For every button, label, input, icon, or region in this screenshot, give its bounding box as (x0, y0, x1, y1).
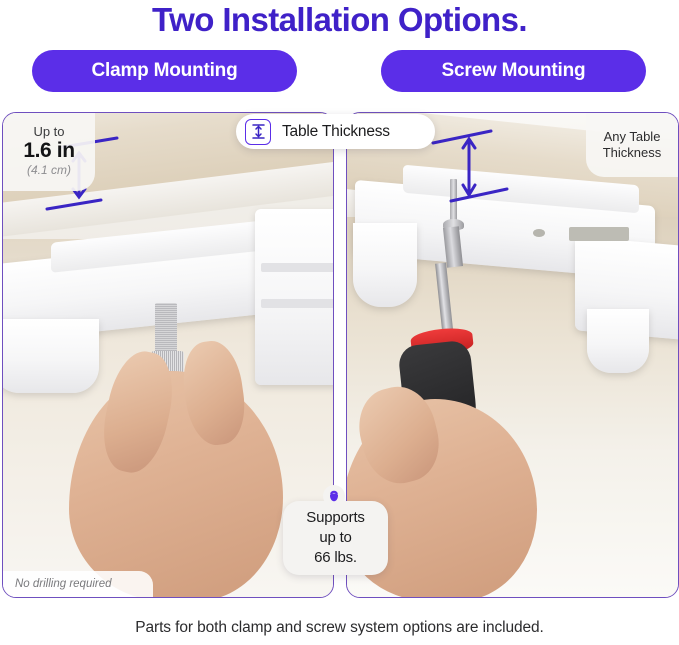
clamp-bracket-lower-hook (2, 319, 99, 393)
footer-caption: Parts for both clamp and screw system op… (0, 619, 679, 637)
badge-any-table-thickness: Any Table Thickness (586, 113, 678, 177)
tab-clamp-mounting[interactable]: Clamp Mounting (32, 50, 297, 92)
tab-screw-mounting[interactable]: Screw Mounting (381, 50, 646, 92)
badge-thickness-prefix: Up to (3, 124, 95, 139)
badge-no-drilling-label: No drilling required (15, 578, 112, 590)
clamp-bracket-slot-lower (261, 299, 334, 308)
badge-no-drilling-required: No drilling required (3, 571, 153, 597)
screw-bracket-left-hook (353, 223, 417, 307)
table-thickness-pill-label: Table Thickness (282, 123, 390, 141)
badge-thickness-metric: (4.1 cm) (3, 163, 95, 178)
screw-thickness-measure (429, 125, 513, 233)
supports-callout-line3: 66 lbs. (306, 548, 364, 568)
panel-screw-mounting: Any Table Thickness (346, 112, 679, 598)
screw-bracket-metal-plate (569, 227, 629, 241)
clamp-bracket-slot-upper (261, 263, 334, 272)
badge-any-line2: Thickness (603, 145, 662, 161)
screw-bracket-pilot-hole (533, 229, 545, 237)
table-thickness-pill: Table Thickness (236, 114, 435, 149)
vertical-double-arrow-icon (245, 119, 271, 145)
tab-screw-mounting-label: Screw Mounting (442, 60, 586, 82)
badge-thickness-value: 1.6 in (3, 139, 95, 163)
clamp-thumbscrew-shaft (155, 303, 177, 355)
supports-callout-line1: Supports (306, 508, 364, 528)
clamp-bracket-right-wing (255, 209, 334, 385)
badge-any-line1: Any Table (603, 129, 662, 145)
page-title: Two Installation Options. (0, 0, 679, 40)
installation-options-tabs: Clamp Mounting Screw Mounting (0, 50, 679, 96)
screw-installation-photo (347, 113, 678, 597)
tab-clamp-mounting-label: Clamp Mounting (91, 60, 237, 82)
supports-weight-callout: Supports up to 66 lbs. (283, 501, 388, 575)
screw-bracket-right-hook (587, 309, 649, 373)
kettlebell-icon (322, 484, 346, 508)
supports-callout-line2: up to (306, 528, 364, 548)
badge-max-table-thickness: Up to 1.6 in (4.1 cm) (3, 113, 95, 191)
